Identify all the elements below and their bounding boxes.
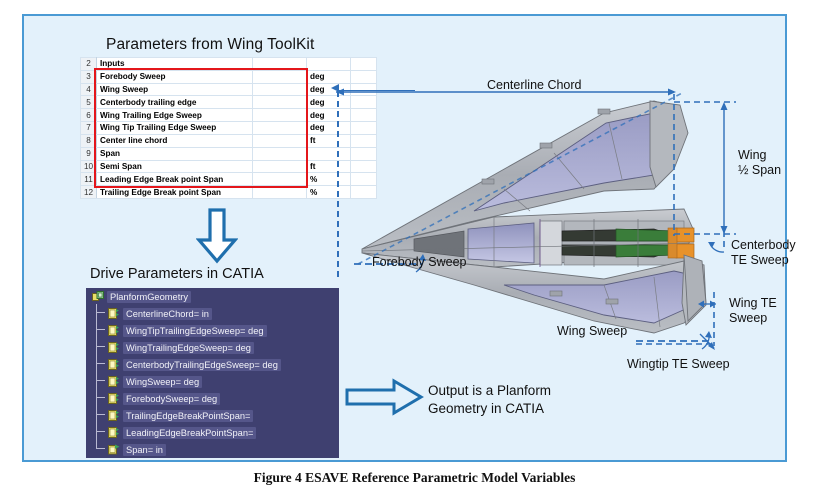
label-wing-half-span-line1: Wing <box>738 148 781 163</box>
figure-caption: Figure 4 ESAVE Reference Parametric Mode… <box>0 470 829 486</box>
label-wing-half-span: Wing ½ Span <box>738 148 781 178</box>
label-centerbody-te-line1: Centerbody <box>731 238 796 253</box>
label-centerbody-te-line2: TE Sweep <box>731 253 796 268</box>
label-wing-sweep: Wing Sweep <box>557 324 627 339</box>
label-centerline-chord: Centerline Chord <box>487 78 582 93</box>
label-wing-te-line1: Wing TE <box>729 296 777 311</box>
slide-panel: Parameters from Wing ToolKit 2Inputs3For… <box>22 14 787 462</box>
label-wing-te-sweep: Wing TE Sweep <box>729 296 777 326</box>
label-wing-half-span-line2: ½ Span <box>738 163 781 178</box>
label-forebody-sweep: Forebody Sweep <box>372 255 467 270</box>
label-wingtip-te-sweep: Wingtip TE Sweep <box>627 357 730 372</box>
label-centerbody-te-sweep: Centerbody TE Sweep <box>731 238 796 268</box>
label-wing-te-line2: Sweep <box>729 311 777 326</box>
dimension-overlay <box>24 16 789 464</box>
